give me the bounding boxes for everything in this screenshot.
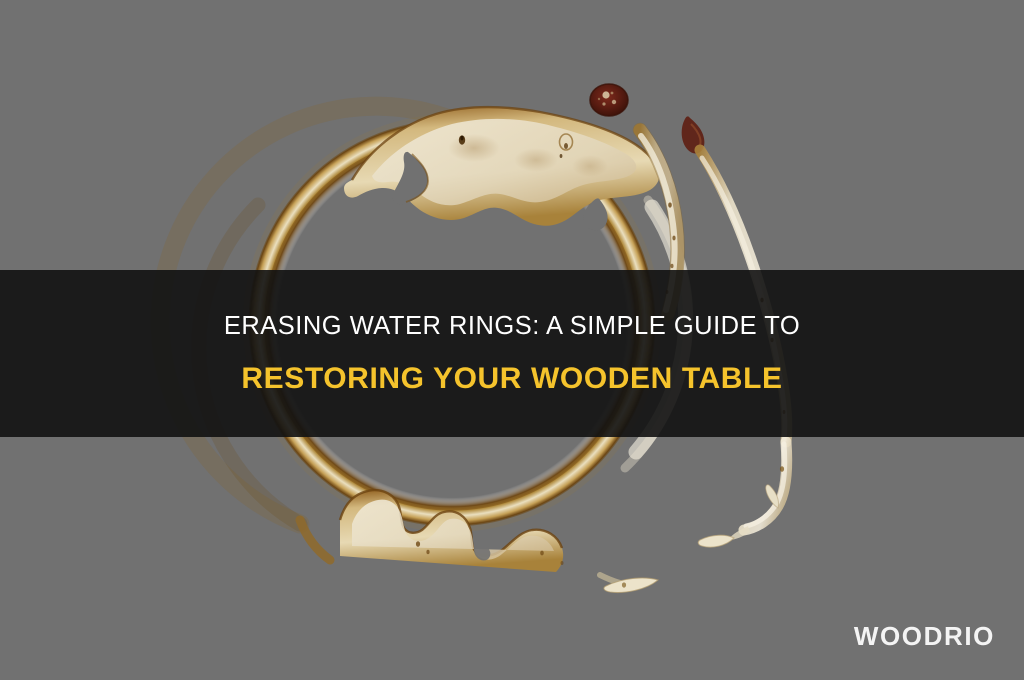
drip-pinhole-1 (416, 541, 420, 547)
brand-watermark: WOODRIO (854, 623, 995, 649)
title-block: ERASING WATER RINGS: A SIMPLE GUIDE TO R… (0, 270, 1024, 437)
crust-mottle-3 (572, 155, 608, 177)
arc-pinhole-2 (672, 236, 675, 241)
maroon-spot-speck-5 (598, 98, 600, 100)
article-hero-banner: ERASING WATER RINGS: A SIMPLE GUIDE TO R… (0, 0, 1024, 680)
maroon-spot-group (590, 84, 628, 116)
crust-pinhole-2-core (564, 143, 568, 149)
drip-pinhole-4 (561, 561, 564, 565)
maroon-spot-speck-4 (611, 92, 614, 95)
crust-pinhole-3 (560, 154, 563, 158)
article-title-line-2: RESTORING YOUR WOODEN TABLE (241, 362, 782, 395)
tail-pinhole-5 (780, 466, 784, 472)
drip-pinhole-2 (426, 550, 429, 554)
arc-pinhole-1 (668, 202, 672, 207)
maroon-spot-speck-3 (602, 102, 605, 105)
crust-mottle-2 (514, 148, 558, 172)
arc-pinhole-3 (671, 264, 674, 268)
article-title-line-1: ERASING WATER RINGS: A SIMPLE GUIDE TO (224, 312, 800, 340)
crust-pinhole-1-core (460, 136, 463, 141)
crust-mottle-1 (448, 134, 500, 162)
droplet-2-core (622, 582, 626, 587)
maroon-spot-speck-1 (602, 91, 609, 98)
maroon-spot-speck-2 (612, 100, 616, 104)
drip-pinhole-3 (540, 551, 544, 556)
